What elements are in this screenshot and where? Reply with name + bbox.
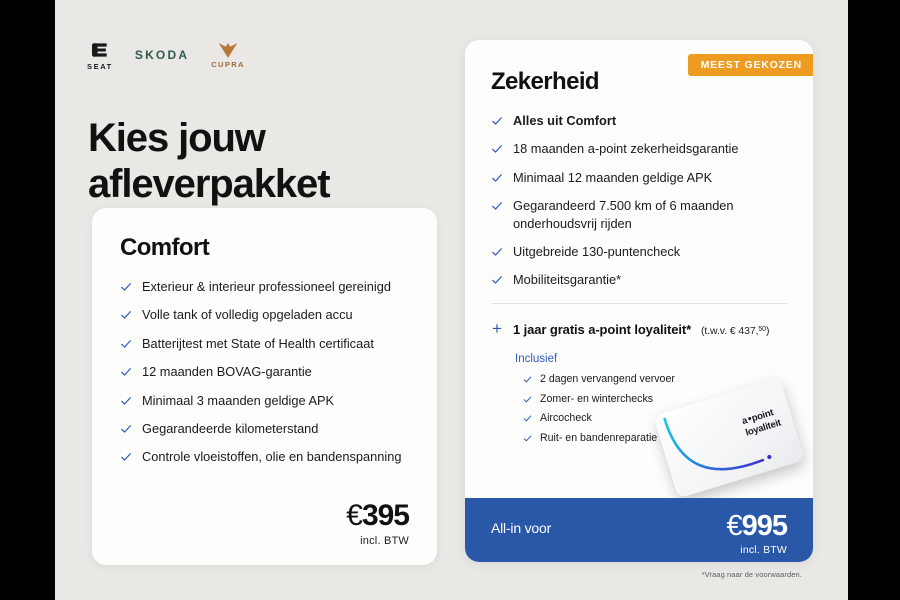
price-amount: 395 bbox=[362, 499, 409, 532]
footer-row: All-in voor €995 incl. BTW bbox=[491, 512, 787, 556]
bonus-value-suffix: ) bbox=[766, 325, 769, 337]
comfort-price-note: incl. BTW bbox=[346, 535, 409, 547]
list-item: Batterijtest met State of Health certifi… bbox=[120, 335, 409, 352]
check-icon bbox=[120, 423, 132, 435]
bonus-value: (t.w.v. € 437,50) bbox=[701, 325, 769, 337]
feature-text: Minimaal 3 maanden geldige APK bbox=[142, 392, 334, 409]
feature-text: Uitgebreide 130-puntencheck bbox=[513, 243, 680, 260]
check-icon bbox=[120, 451, 132, 463]
check-icon bbox=[523, 434, 532, 443]
check-icon bbox=[491, 143, 503, 155]
list-item: Alles uit Comfort bbox=[491, 112, 787, 129]
plus-icon: + bbox=[491, 320, 503, 337]
bonus-label: 1 jaar gratis a-point loyaliteit* bbox=[513, 322, 691, 337]
comfort-price: €395 bbox=[346, 501, 409, 531]
price-amount: 995 bbox=[742, 510, 787, 542]
feature-text: 12 maanden BOVAG-garantie bbox=[142, 363, 312, 380]
divider bbox=[491, 303, 787, 304]
list-item: Gegarandeerd 7.500 km of 6 maanden onder… bbox=[491, 197, 787, 232]
cupra-logo: CUPRA bbox=[211, 42, 245, 69]
brand-logo-row: SEAT SKODA CUPRA bbox=[87, 40, 245, 71]
bonus-value-cents: 50 bbox=[758, 326, 766, 333]
comfort-card-title: Comfort bbox=[120, 234, 409, 262]
list-item: 12 maanden BOVAG-garantie bbox=[120, 363, 409, 380]
inclusief-item-text: Ruit- en bandenreparatie bbox=[540, 432, 657, 446]
list-item: Uitgebreide 130-puntencheck bbox=[491, 243, 787, 260]
footer-label: All-in voor bbox=[491, 512, 551, 536]
feature-text: 18 maanden a-point zekerheidsgarantie bbox=[513, 140, 739, 157]
inclusief-item-text: Aircocheck bbox=[540, 412, 592, 426]
check-icon bbox=[523, 395, 532, 404]
inclusief-title: Inclusief bbox=[515, 353, 787, 365]
promo-canvas: SEAT SKODA CUPRA Kies jouw afleverpakket… bbox=[55, 0, 848, 600]
check-icon bbox=[120, 395, 132, 407]
check-icon bbox=[491, 200, 503, 212]
check-icon bbox=[523, 414, 532, 423]
list-item: Mobiliteitsgarantie* bbox=[491, 271, 787, 288]
package-card-comfort[interactable]: Comfort Exterieur & interieur profession… bbox=[92, 208, 437, 565]
comfort-price-block: €395 incl. BTW bbox=[346, 501, 409, 547]
feature-text: Gegarandeerde kilometerstand bbox=[142, 420, 318, 437]
footnote-text: *Vraag naar de voorwaarden. bbox=[702, 570, 802, 579]
seat-logo-icon bbox=[90, 40, 110, 60]
list-item: Minimaal 12 maanden geldige APK bbox=[491, 169, 787, 186]
comfort-feature-list: Exterieur & interieur professioneel gere… bbox=[120, 278, 409, 466]
feature-text: Gegarandeerd 7.500 km of 6 maanden onder… bbox=[513, 197, 787, 232]
check-icon bbox=[491, 246, 503, 258]
list-item: Controle vloeistoffen, olie en bandenspa… bbox=[120, 448, 409, 465]
inclusief-item-text: Zomer- en winterchecks bbox=[540, 393, 653, 407]
list-item: 18 maanden a-point zekerheidsgarantie bbox=[491, 140, 787, 157]
bonus-value-prefix: (t.w.v. € 437, bbox=[701, 325, 758, 337]
skoda-wordmark-icon: SKODA bbox=[135, 49, 189, 61]
list-item: Exterieur & interieur professioneel gere… bbox=[120, 278, 409, 295]
feature-text: Exterieur & interieur professioneel gere… bbox=[142, 278, 391, 295]
check-icon bbox=[120, 281, 132, 293]
check-icon bbox=[120, 366, 132, 378]
feature-text: Batterijtest met State of Health certifi… bbox=[142, 335, 374, 352]
zekerheid-price-footer: All-in voor €995 incl. BTW bbox=[465, 498, 813, 562]
footer-price: €995 bbox=[726, 512, 787, 541]
list-item: Gegarandeerde kilometerstand bbox=[120, 420, 409, 437]
inclusief-item-text: 2 dagen vervangend vervoer bbox=[540, 373, 675, 387]
package-card-zekerheid[interactable]: MEEST GEKOZEN Zekerheid Alles uit Comfor… bbox=[465, 40, 813, 562]
check-icon bbox=[120, 338, 132, 350]
bonus-row: + 1 jaar gratis a-point loyaliteit* (t.w… bbox=[491, 320, 787, 337]
zekerheid-feature-list: Alles uit Comfort 18 maanden a-point zek… bbox=[491, 112, 787, 289]
list-item: 2 dagen vervangend vervoer bbox=[523, 373, 787, 387]
cupra-wordmark: CUPRA bbox=[211, 61, 245, 69]
screenshot-stage: SEAT SKODA CUPRA Kies jouw afleverpakket… bbox=[0, 0, 900, 600]
check-icon bbox=[491, 274, 503, 286]
feature-text: Volle tank of volledig opgeladen accu bbox=[142, 306, 353, 323]
status-badge: MEEST GEKOZEN bbox=[688, 54, 813, 76]
page-title: Kies jouw afleverpakket bbox=[88, 115, 488, 208]
list-item: Minimaal 3 maanden geldige APK bbox=[120, 392, 409, 409]
feature-text: Mobiliteitsgarantie* bbox=[513, 271, 621, 288]
check-icon bbox=[120, 309, 132, 321]
feature-text: Controle vloeistoffen, olie en bandenspa… bbox=[142, 448, 401, 465]
seat-wordmark: SEAT bbox=[87, 63, 113, 71]
check-icon bbox=[491, 172, 503, 184]
footer-price-block: €995 incl. BTW bbox=[726, 512, 787, 556]
feature-text: Alles uit Comfort bbox=[513, 112, 616, 129]
list-item: Volle tank of volledig opgeladen accu bbox=[120, 306, 409, 323]
check-icon bbox=[523, 375, 532, 384]
currency-symbol: € bbox=[346, 499, 362, 532]
footer-price-note: incl. BTW bbox=[726, 544, 787, 556]
cupra-logo-icon bbox=[217, 42, 239, 59]
feature-text: Minimaal 12 maanden geldige APK bbox=[513, 169, 712, 186]
currency-symbol: € bbox=[726, 510, 741, 542]
check-icon bbox=[491, 115, 503, 127]
seat-logo: SEAT bbox=[87, 40, 113, 71]
